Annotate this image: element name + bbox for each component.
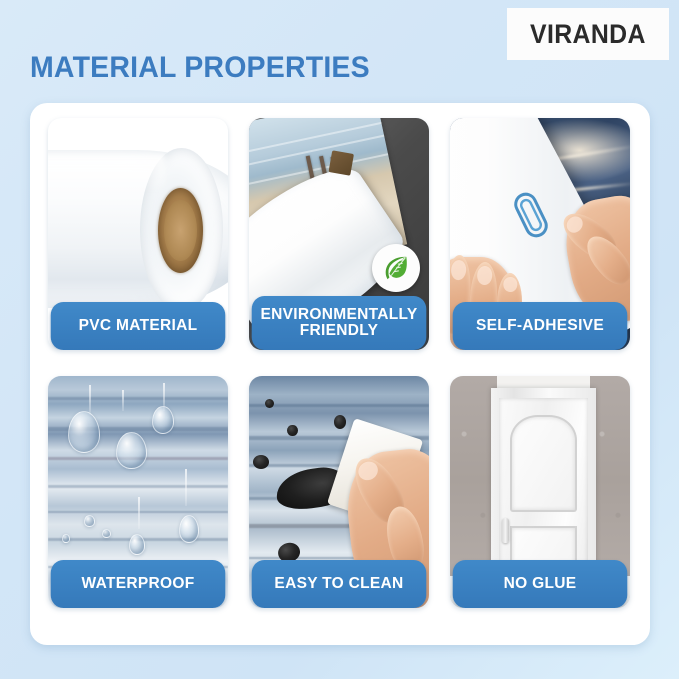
- leaf-icon: [381, 253, 411, 283]
- eco-leaf-badge: [372, 244, 420, 292]
- brand-name: VIRANDA: [530, 19, 646, 50]
- feature-card-no-glue[interactable]: NO GLUE: [450, 376, 630, 608]
- feature-grid: PVC MATERIAL: [48, 118, 632, 630]
- feature-card-pvc-material[interactable]: PVC MATERIAL: [48, 118, 228, 350]
- door-handle: [502, 518, 509, 543]
- card-label-no-glue: NO GLUE: [453, 560, 628, 608]
- card-label-pvc-material: PVC MATERIAL: [51, 302, 226, 350]
- roll-core: [158, 188, 203, 274]
- feature-card-waterproof[interactable]: WATERPROOF: [48, 376, 228, 608]
- page-title: MATERIAL PROPERTIES: [30, 51, 370, 85]
- card-label-environmentally-friendly: ENVIRONMENTALLY FRIENDLY: [252, 296, 427, 350]
- brand-badge: VIRANDA: [507, 8, 669, 60]
- feature-panel: PVC MATERIAL: [30, 103, 650, 645]
- feature-card-easy-to-clean[interactable]: EASY TO CLEAN: [249, 376, 429, 608]
- card-label-self-adhesive: SELF-ADHESIVE: [453, 302, 628, 350]
- feature-card-self-adhesive[interactable]: SELF-ADHESIVE: [450, 118, 630, 350]
- card-label-waterproof: WATERPROOF: [51, 560, 226, 608]
- feature-card-environmentally-friendly[interactable]: ENVIRONMENTALLY FRIENDLY: [249, 118, 429, 350]
- card-label-easy-to-clean: EASY TO CLEAN: [252, 560, 427, 608]
